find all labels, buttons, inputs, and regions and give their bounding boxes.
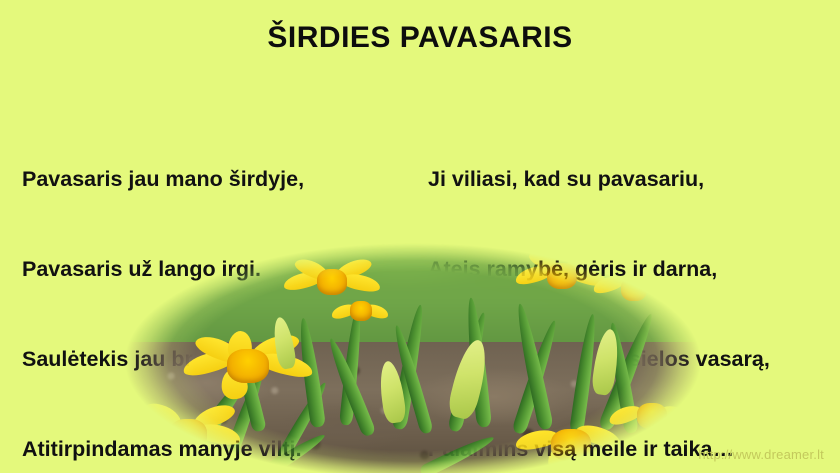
daffodil-flower [595,265,671,311]
trumpet [350,301,372,321]
page-title: ŠIRDIES PAVASARIS [0,20,840,56]
daffodil-flower [183,331,313,403]
daffodil-flower [133,401,243,465]
trumpet [547,263,577,289]
photo-content [125,243,701,473]
daffodil-flower [611,393,693,443]
daffodil-flower [517,251,607,303]
trumpet [169,419,207,451]
daffodils-photo [125,243,701,473]
trumpet [227,349,269,383]
trumpet [637,403,667,429]
watermark-url: http://www.dreamer.lt [698,447,824,462]
trumpet [317,269,347,295]
poem-line: Ji viliasi, kad su pavasariu, [428,164,770,194]
trumpet [621,277,647,301]
trumpet [551,429,591,461]
poem-line: Pavasaris jau mano širdyje, [22,164,334,194]
slide-canvas: ŠIRDIES PAVASARIS Pavasaris jau mano šir… [0,0,840,473]
daffodil-flower [517,413,621,473]
daffodil-flower [333,295,387,329]
